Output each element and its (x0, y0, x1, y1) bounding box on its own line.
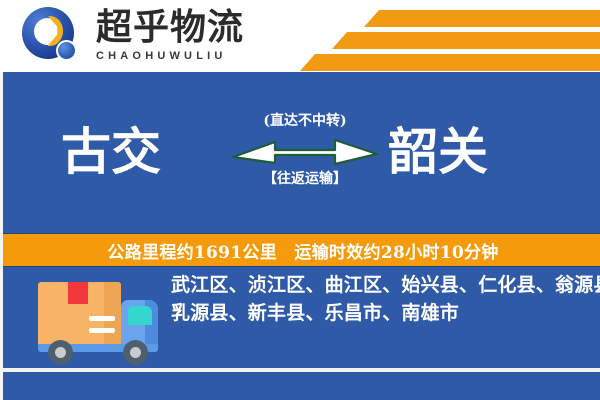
truck-detail-line-1 (89, 316, 115, 321)
round-trip-note: 【往返运输】 (231, 168, 379, 188)
brand-name-cn: 超乎物流 (96, 8, 266, 48)
logistics-route-banner: 超乎物流 CHAOHUWULIU 古交 (直达不中转) 【往返运输】 韶关 (0, 0, 600, 400)
truck-cargo-box-shade (104, 282, 121, 344)
route-middle-block: (直达不中转) 【往返运输】 (231, 110, 379, 188)
panel-footer-area (3, 372, 600, 400)
brand-name-en: CHAOHUWULIU (96, 50, 266, 62)
direct-service-note: (直达不中转) (231, 110, 379, 130)
coverage-area-line: 武江区、浈江区、曲江区、始兴县、仁化县、翁源县、 (171, 271, 591, 299)
origin-city: 古交 (61, 124, 161, 180)
stripe-2 (332, 32, 600, 49)
coverage-area-list: 武江区、浈江区、曲江区、始兴县、仁化县、翁源县、 乳源县、新丰县、乐昌市、南雄市 (171, 271, 591, 327)
stripe-3 (300, 54, 600, 71)
company-logo-icon (22, 7, 80, 65)
decorative-stripes (270, 0, 600, 72)
brand-block: 超乎物流 CHAOHUWULIU (96, 8, 266, 62)
truck-cargo-tape (68, 282, 88, 304)
truck-wheel-hub (55, 347, 66, 358)
truck-window (128, 306, 152, 325)
truck-wheel-hub (130, 347, 141, 358)
main-panel: 古交 (直达不中转) 【往返运输】 韶关 公路里程约1691公里 运输时效约28… (0, 72, 600, 400)
distance-duration-text: 公路里程约1691公里 运输时效约28小时10分钟 (107, 238, 498, 263)
delivery-truck-icon (33, 276, 173, 364)
header-bar: 超乎物流 CHAOHUWULIU (0, 0, 600, 72)
destination-city: 韶关 (388, 124, 488, 180)
coverage-area-line: 乳源县、新丰县、乐昌市、南雄市 (171, 299, 591, 327)
truck-detail-line-2 (89, 328, 115, 333)
distance-duration-bar: 公路里程约1691公里 运输时效约28小时10分钟 (3, 233, 600, 267)
logo-dot-icon (56, 40, 77, 61)
bidirectional-arrow-icon (231, 132, 379, 166)
truck-wheel-rear (48, 340, 73, 365)
route-section: 古交 (直达不中转) 【往返运输】 韶关 (3, 72, 600, 230)
coverage-section: 武江区、浈江区、曲江区、始兴县、仁化县、翁源县、 乳源县、新丰县、乐昌市、南雄市 (3, 267, 600, 370)
truck-wheel-front (123, 340, 148, 365)
stripe-1 (364, 10, 600, 27)
